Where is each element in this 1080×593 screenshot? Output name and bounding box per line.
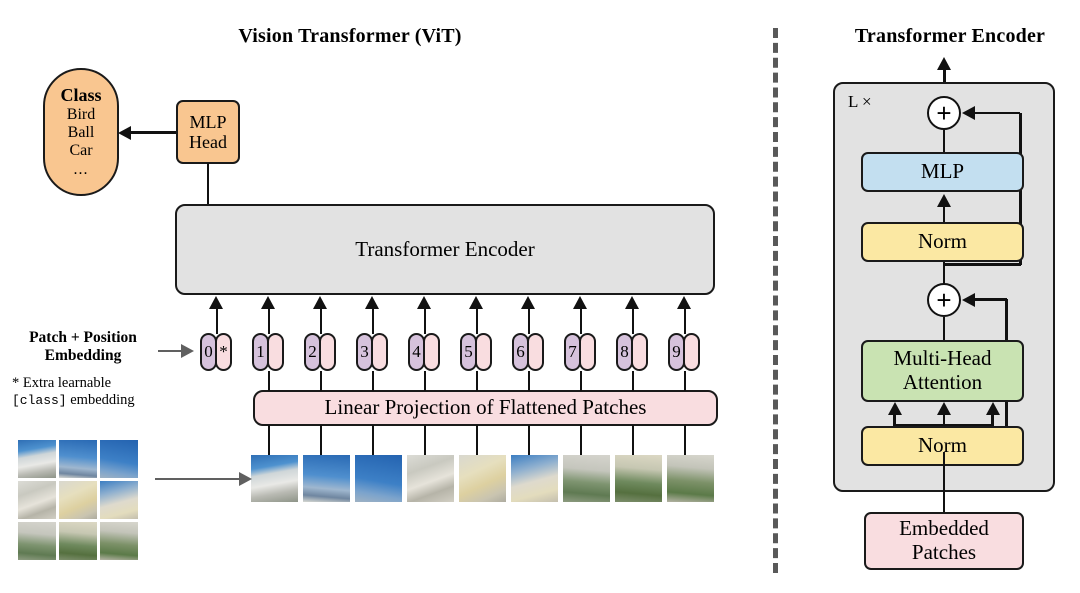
position-token-9-label: 9 xyxy=(672,342,681,362)
token-7-up-arrowhead xyxy=(573,296,587,309)
class-box-item: Car xyxy=(69,142,92,160)
position-token-5-label: 5 xyxy=(464,342,473,362)
source-patch-7 xyxy=(18,522,56,560)
token-2-up-line xyxy=(320,307,323,334)
token-0-up-arrowhead xyxy=(209,296,223,309)
token-6-up-line xyxy=(528,307,531,334)
patch-embedding-7 xyxy=(579,333,596,371)
image-patch-8 xyxy=(615,455,662,502)
projection-to-patch-line-7 xyxy=(580,425,583,455)
residual-add-top-symbol: + xyxy=(936,100,951,126)
mlp-to-add-line xyxy=(943,130,946,152)
image-patch-7 xyxy=(563,455,610,502)
class-token-text: [class] xyxy=(12,393,67,408)
footnote-line1: * Extra learnable xyxy=(12,375,177,392)
position-token-8-label: 8 xyxy=(620,342,629,362)
embedded-to-norm-line xyxy=(943,452,946,512)
token-8-down-line xyxy=(632,371,635,391)
token-8-up-arrowhead xyxy=(625,296,639,309)
position-token-2-label: 2 xyxy=(308,342,317,362)
token-3-up-arrowhead xyxy=(365,296,379,309)
residual-bottom-arrowhead xyxy=(962,293,975,307)
norm-top-to-mlp-arrowhead xyxy=(937,194,951,207)
mlp-head-to-encoder-line xyxy=(207,163,210,206)
token-5-down-line xyxy=(476,371,479,391)
source-patch-4 xyxy=(18,481,56,519)
qkv-arrowhead-center xyxy=(937,402,951,415)
residual-top-horizontal-bottom xyxy=(944,263,1021,266)
residual-bottom-horizontal-top xyxy=(975,298,1007,301)
attention-to-add-line xyxy=(943,317,946,341)
mlp-block-label: MLP xyxy=(921,160,964,184)
repeat-count-label: L × xyxy=(848,92,872,112)
token-9-up-line xyxy=(684,307,687,334)
transformer-encoder-box: Transformer Encoder xyxy=(175,204,715,295)
mlp-head-line1: MLP xyxy=(189,112,226,132)
source-patch-9 xyxy=(100,522,138,560)
projection-to-patch-line-6 xyxy=(528,425,531,455)
mlp-to-class-arrowhead xyxy=(118,126,131,140)
image-patch-2 xyxy=(303,455,350,502)
position-token-4-label: 4 xyxy=(412,342,421,362)
token-4-down-line xyxy=(424,371,427,391)
residual-add-top: + xyxy=(927,96,961,130)
linear-projection-label: Linear Projection of Flattened Patches xyxy=(325,396,647,420)
token-7-up-line xyxy=(580,307,583,334)
embedded-patches-line1: Embedded xyxy=(899,517,989,541)
residual-add-bottom-symbol: + xyxy=(936,287,951,313)
panel-divider xyxy=(773,28,778,573)
class-embedding-footnote: * Extra learnable [class] embedding xyxy=(12,375,177,410)
norm-block-top-label: Norm xyxy=(918,230,967,254)
token-2-up-arrowhead xyxy=(313,296,327,309)
source-patch-5 xyxy=(59,481,97,519)
source-to-patches-line xyxy=(155,478,240,480)
patch-embedding-2 xyxy=(319,333,336,371)
residual-top-horizontal-top xyxy=(975,112,1020,115)
source-patch-1 xyxy=(18,440,56,478)
patch-embedding-6 xyxy=(527,333,544,371)
class-box-item: Bird xyxy=(67,106,95,124)
mlp-block: MLP xyxy=(861,152,1024,192)
embedded-patches-line2: Patches xyxy=(912,541,976,565)
token-4-up-arrowhead xyxy=(417,296,431,309)
source-to-patches-arrowhead xyxy=(239,472,252,486)
projection-to-patch-line-5 xyxy=(476,425,479,455)
image-patch-4 xyxy=(407,455,454,502)
position-token-3-label: 3 xyxy=(360,342,369,362)
token-0-up-line xyxy=(216,307,219,334)
position-token-1-label: 1 xyxy=(256,342,265,362)
token-1-up-arrowhead xyxy=(261,296,275,309)
token-6-up-arrowhead xyxy=(521,296,535,309)
patch-embedding-9 xyxy=(683,333,700,371)
patch-embedding-8 xyxy=(631,333,648,371)
qkv-line-left xyxy=(893,414,896,426)
footnote-line2-rest: embedding xyxy=(67,392,135,408)
class-box-item: Ball xyxy=(68,124,95,142)
embedded-patches-block: Embedded Patches xyxy=(864,512,1024,570)
source-patch-8 xyxy=(59,522,97,560)
position-token-6-label: 6 xyxy=(516,342,525,362)
token-3-down-line xyxy=(372,371,375,391)
image-patch-5 xyxy=(459,455,506,502)
qkv-arrowhead-left xyxy=(888,402,902,415)
class-box-heading: Class xyxy=(60,85,101,105)
mlp-head-box: MLP Head xyxy=(176,100,240,164)
patch-embedding-5 xyxy=(475,333,492,371)
projection-to-patch-line-8 xyxy=(632,425,635,455)
token-1-up-line xyxy=(268,307,271,334)
patch-embedding-3 xyxy=(371,333,388,371)
qkv-line-right xyxy=(991,414,994,426)
token-5-up-line xyxy=(476,307,479,334)
token-1-down-line xyxy=(268,371,271,391)
projection-to-patch-line-4 xyxy=(424,425,427,455)
footnote-line2: [class] embedding xyxy=(12,392,177,409)
image-patch-6 xyxy=(511,455,558,502)
token-7-down-line xyxy=(580,371,583,391)
linear-projection-box: Linear Projection of Flattened Patches xyxy=(253,390,718,426)
source-patch-3 xyxy=(100,440,138,478)
class-box-item: ... xyxy=(74,161,89,179)
embedding-label-arrowhead xyxy=(181,344,194,358)
image-patch-9 xyxy=(667,455,714,502)
qkv-line-center xyxy=(943,414,946,426)
source-patch-2 xyxy=(59,440,97,478)
image-patch-3 xyxy=(355,455,402,502)
patch-embedding-1 xyxy=(267,333,284,371)
token-5-up-arrowhead xyxy=(469,296,483,309)
embedding-label-line2: Embedding xyxy=(8,347,158,365)
projection-to-patch-line-2 xyxy=(320,425,323,455)
token-4-up-line xyxy=(424,307,427,334)
qkv-arrowhead-right xyxy=(986,402,1000,415)
mlp-to-class-line xyxy=(130,131,176,134)
token-3-up-line xyxy=(372,307,375,334)
residual-top-arrowhead xyxy=(962,106,975,120)
norm-block-top: Norm xyxy=(861,222,1024,262)
position-token-7-label: 7 xyxy=(568,342,577,362)
class-token-star: * xyxy=(215,333,232,371)
attention-label-line2: Attention xyxy=(903,371,982,395)
right-panel-title: Transformer Encoder xyxy=(820,25,1080,48)
mlp-head-line2: Head xyxy=(189,132,227,152)
multi-head-attention-block: Multi-Head Attention xyxy=(861,340,1024,402)
image-patch-1 xyxy=(251,455,298,502)
left-panel-title: Vision Transformer (ViT) xyxy=(180,25,520,48)
patch-embedding-4 xyxy=(423,333,440,371)
token-2-down-line xyxy=(320,371,323,391)
class-box: Class Bird Ball Car ... xyxy=(43,68,119,196)
embedding-label-line1: Patch + Position xyxy=(8,329,158,347)
token-8-up-line xyxy=(632,307,635,334)
projection-to-patch-line-1 xyxy=(268,425,271,455)
projection-to-patch-line-9 xyxy=(684,425,687,455)
projection-to-patch-line-3 xyxy=(372,425,375,455)
source-image-grid xyxy=(18,440,138,560)
patch-position-embedding-label: Patch + Position Embedding xyxy=(8,329,158,365)
class-token-star-label: * xyxy=(219,342,228,362)
token-9-up-arrowhead xyxy=(677,296,691,309)
transformer-encoder-label: Transformer Encoder xyxy=(355,238,534,262)
attention-label-line1: Multi-Head xyxy=(894,347,992,371)
token-9-down-line xyxy=(684,371,687,391)
residual-add-bottom: + xyxy=(927,283,961,317)
encoder-output-arrowhead xyxy=(937,57,951,70)
position-token-0-label: 0 xyxy=(204,342,213,362)
embedding-label-arrow-line xyxy=(158,350,182,352)
source-patch-6 xyxy=(100,481,138,519)
token-6-down-line xyxy=(528,371,531,391)
